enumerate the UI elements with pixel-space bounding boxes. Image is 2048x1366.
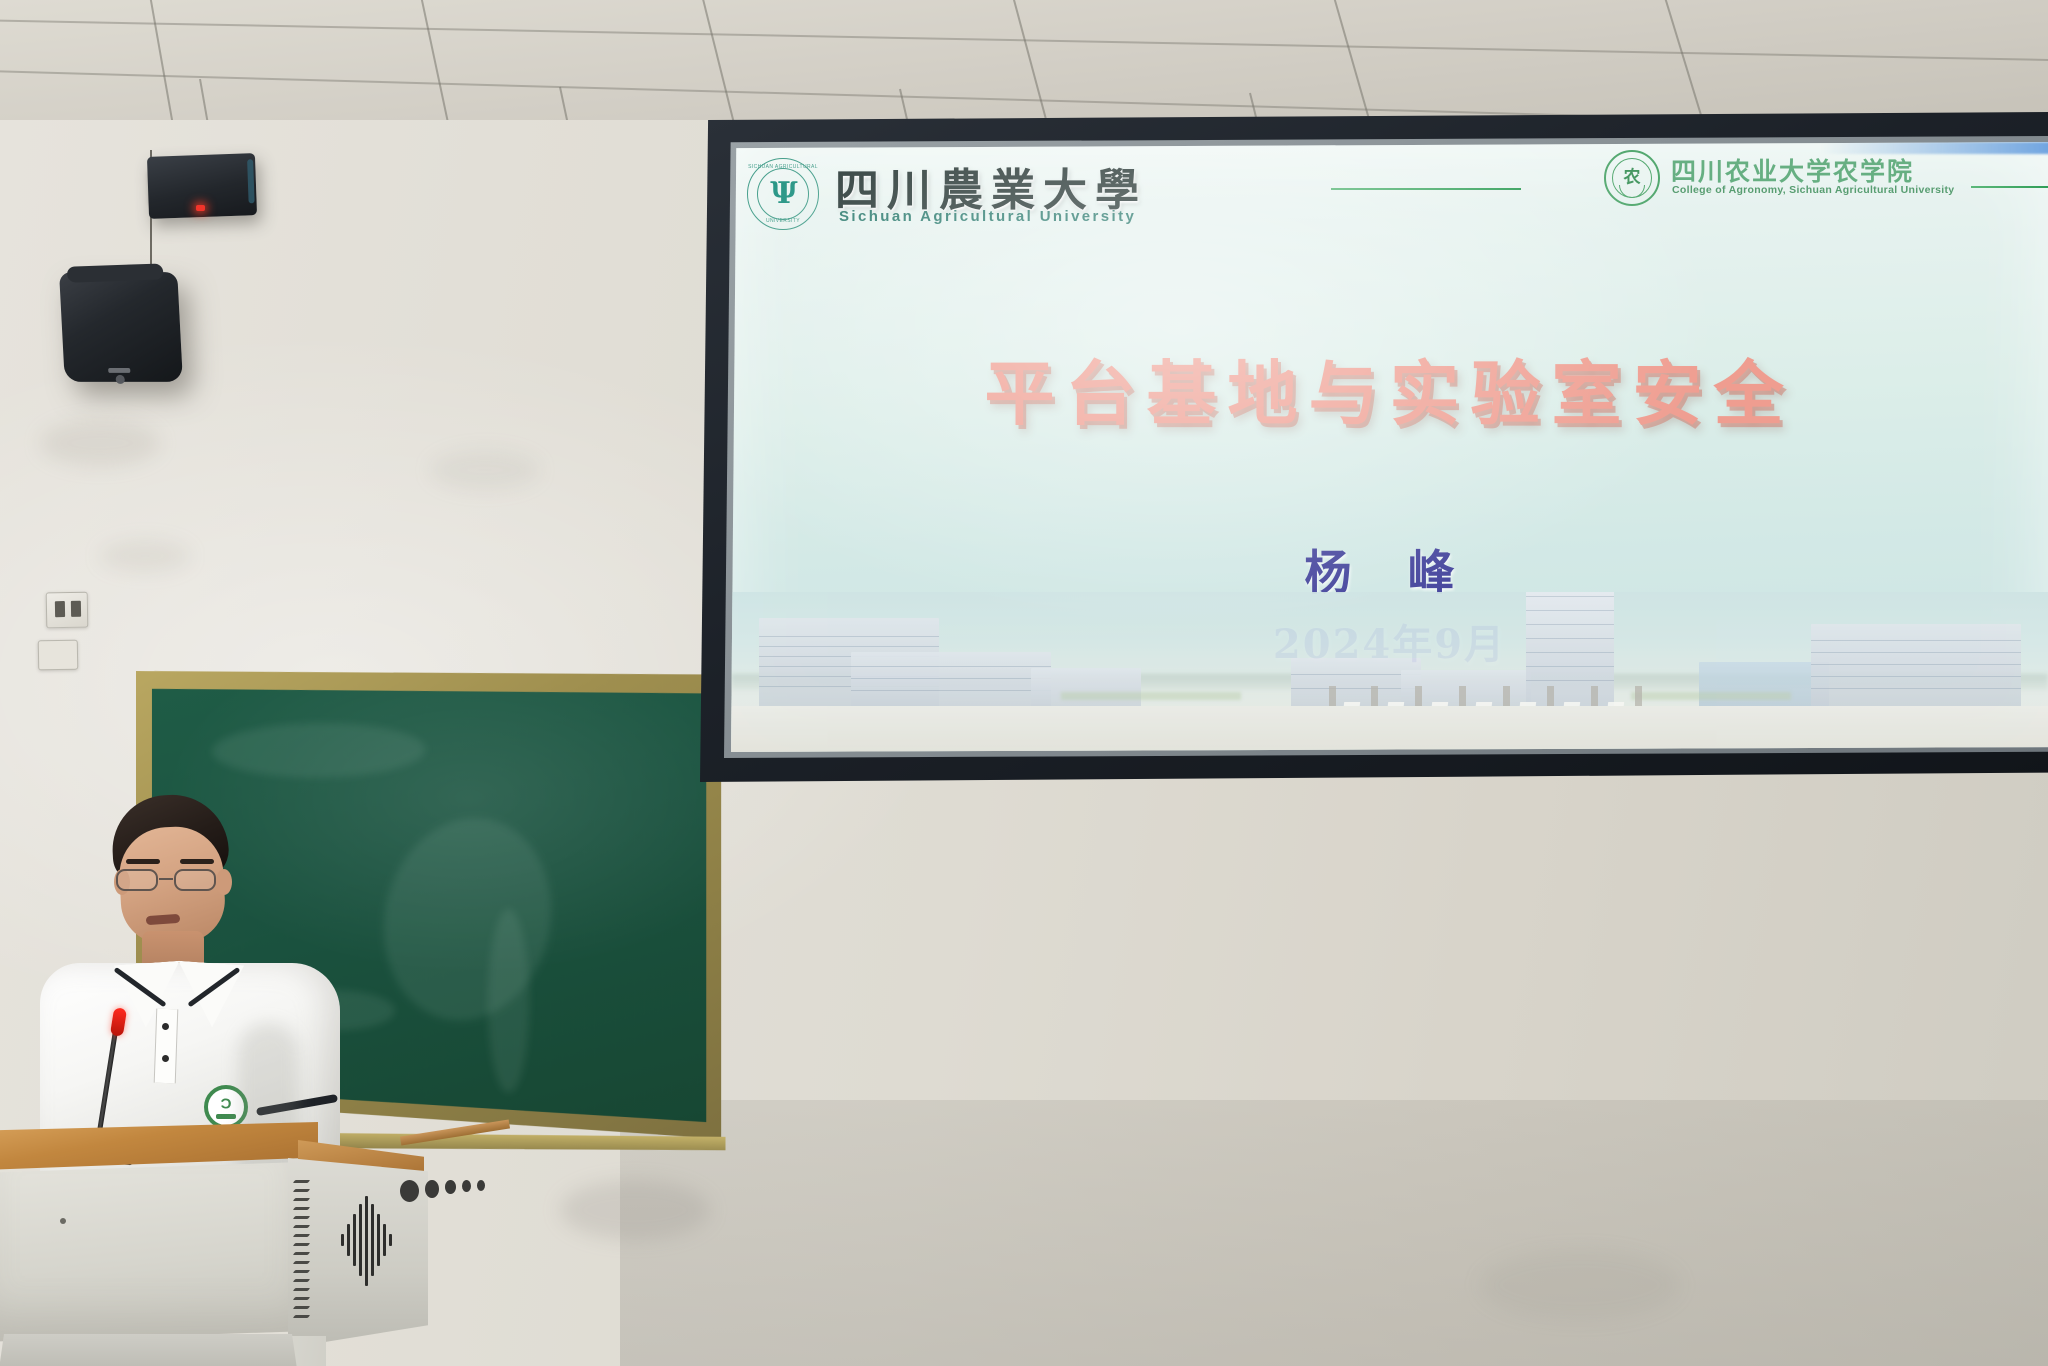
lecture-hall-scene: SICHUAN AGRICULTURAL Ψ UNIVERSITY 四川農業大學… [0,0,2048,1366]
lectern-wood-top [0,1122,318,1170]
university-seal-icon: SICHUAN AGRICULTURAL Ψ UNIVERSITY [747,158,819,230]
wall-outlet-lower [38,640,79,671]
college-name-en: College of Agronomy, Sichuan Agricultura… [1672,184,1954,196]
presentation-slide: SICHUAN AGRICULTURAL Ψ UNIVERSITY 四川農業大學… [731,142,2048,752]
wall-switch-plate[interactable] [46,592,89,629]
lectern-vent-slots [294,1180,310,1328]
power-led-icon [196,205,205,211]
glasses-icon [116,869,228,893]
lectern-speaker-grille [334,1196,400,1300]
university-name-en: Sichuan Agricultural University [839,208,1136,225]
college-seal-glyph: 农 [1624,162,1641,187]
lectern-control-knobs[interactable] [400,1180,496,1206]
slide-title: 平台基地与实验室安全 [731,338,2048,439]
lectern-base [0,1334,298,1366]
seal-ring-top-text: SICHUAN AGRICULTURAL [748,164,818,170]
lectern-front-panel [0,1162,302,1342]
wall-speaker [59,272,183,382]
college-seal-icon: 农 [1604,150,1660,206]
header-green-rule-left [1331,188,1521,190]
lectern [0,1122,412,1366]
header-green-rule-right [1971,186,2048,188]
seal-ring-bottom-text: UNIVERSITY [748,218,818,224]
college-name-cn: 四川农业大学农学院 [1671,152,1914,188]
campus-panorama-photo [731,592,2048,752]
